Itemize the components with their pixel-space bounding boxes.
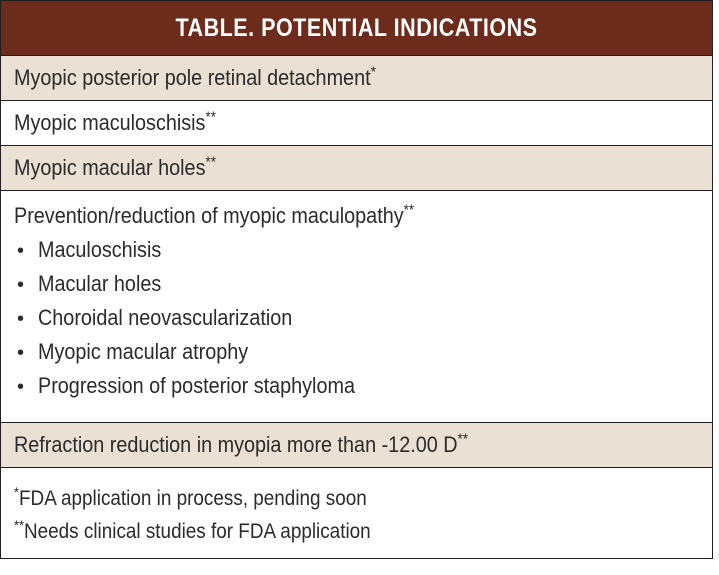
list-item-label: Progression of posterior staphyloma (38, 373, 355, 399)
table-row: Myopic maculoschisis** (1, 101, 712, 146)
indication-label: Refraction reduction in myopia more than… (14, 432, 642, 458)
table-row: Myopic macular holes** (1, 146, 712, 191)
indication-label: Myopic posterior pole retinal detachment… (14, 65, 642, 91)
bullet-dot-icon: • (14, 340, 38, 366)
table-header: TABLE. POTENTIAL INDICATIONS (1, 1, 712, 56)
potential-indications-table: TABLE. POTENTIAL INDICATIONS Myopic post… (0, 0, 713, 559)
indication-label: Prevention/reduction of myopic maculopat… (14, 203, 642, 229)
list-item-label: Choroidal neovascularization (38, 305, 292, 331)
table-footnotes: *FDA application in process, pending soo… (1, 468, 712, 558)
bullet-dot-icon: • (14, 306, 38, 332)
table-row: Myopic posterior pole retinal detachment… (1, 56, 712, 101)
list-item-label: Myopic macular atrophy (38, 339, 248, 365)
table-row-with-bullets: Prevention/reduction of myopic maculopat… (1, 191, 712, 423)
list-item: • Choroidal neovascularization (14, 305, 712, 339)
footnote-double-asterisk: **Needs clinical studies for FDA applica… (14, 515, 642, 548)
list-item: • Maculoschisis (14, 237, 712, 271)
list-item-label: Macular holes (38, 271, 161, 297)
footnote-single-asterisk: *FDA application in process, pending soo… (14, 482, 642, 515)
list-item-label: Maculoschisis (38, 237, 161, 263)
list-item: • Macular holes (14, 271, 712, 305)
list-item: • Progression of posterior staphyloma (14, 373, 712, 407)
indication-label: Myopic maculoschisis** (14, 110, 642, 136)
table-row: Refraction reduction in myopia more than… (1, 423, 712, 468)
table-title: TABLE. POTENTIAL INDICATIONS (175, 14, 537, 43)
indication-label: Myopic macular holes** (14, 155, 642, 181)
bullet-dot-icon: • (14, 238, 38, 264)
list-item: • Myopic macular atrophy (14, 339, 712, 373)
bullet-dot-icon: • (14, 272, 38, 298)
indication-sublist: • Maculoschisis • Macular holes • Choroi… (14, 237, 712, 407)
bullet-dot-icon: • (14, 374, 38, 400)
